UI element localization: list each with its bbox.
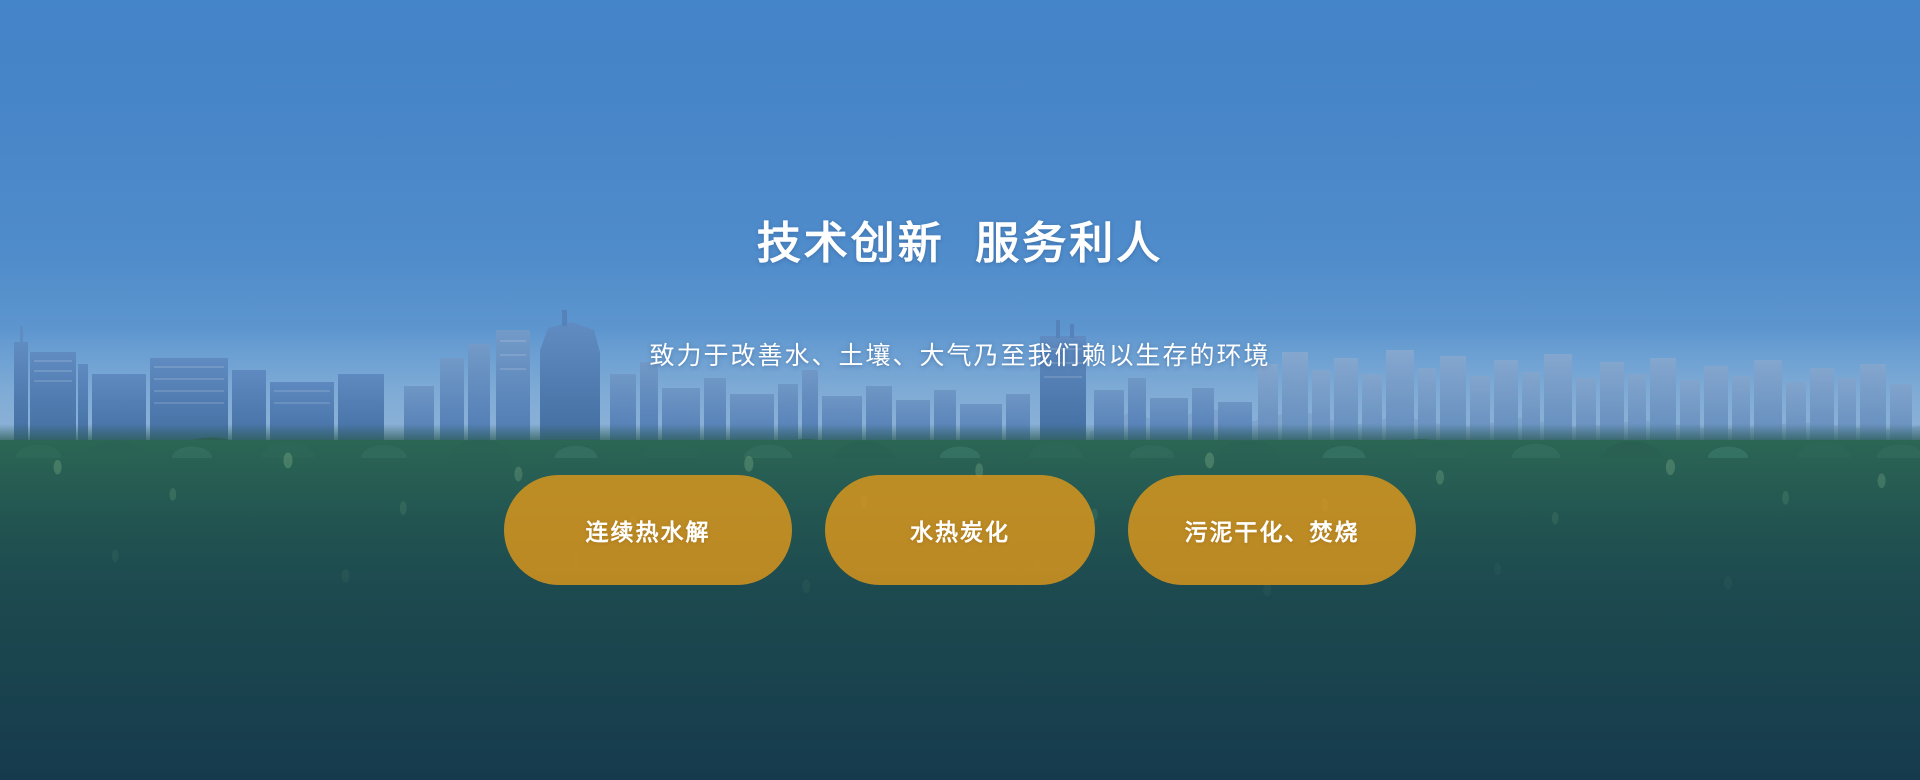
hero-subtitle: 致力于改善水、土壤、大气乃至我们赖以生存的环境 <box>0 340 1920 373</box>
hero-content: 技术创新 服务利人 致力于改善水、土壤、大气乃至我们赖以生存的环境 连续热水解 … <box>0 0 1920 780</box>
cta-button-continuous-thermal-hydrolysis[interactable]: 连续热水解 <box>504 475 792 585</box>
cta-button-hydrothermal-carbonization[interactable]: 水热炭化 <box>825 475 1095 585</box>
hero-cta-row: 连续热水解 水热炭化 污泥干化、焚烧 <box>0 475 1920 585</box>
cta-button-sludge-drying-incineration[interactable]: 污泥干化、焚烧 <box>1128 475 1416 585</box>
hero-title: 技术创新 服务利人 <box>0 216 1920 271</box>
hero-banner: 技术创新 服务利人 致力于改善水、土壤、大气乃至我们赖以生存的环境 连续热水解 … <box>0 0 1920 780</box>
